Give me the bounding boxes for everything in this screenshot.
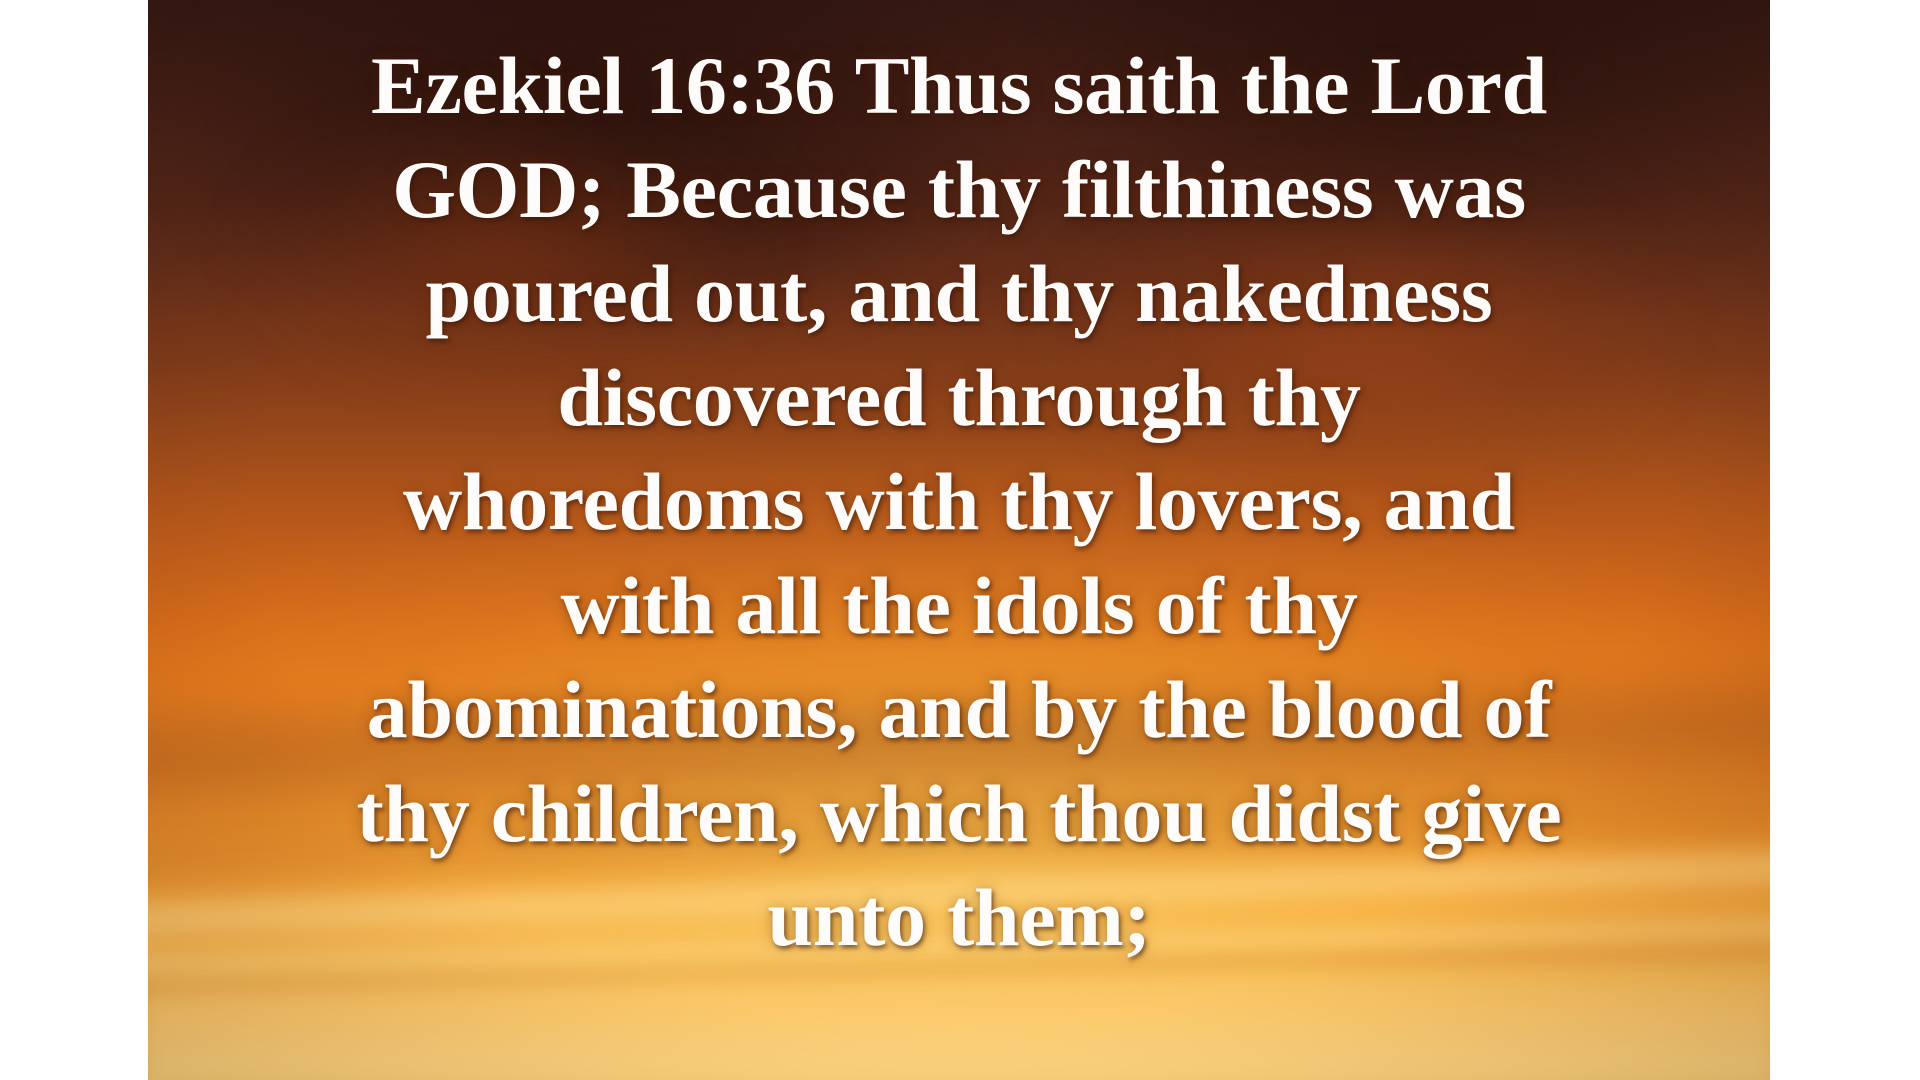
scripture-verse-text: Ezekiel 16:36 Thus saith the LordGOD; Be… [148, 0, 1770, 1080]
verse-line: whoredoms with thy lovers, and [403, 456, 1515, 547]
slide-canvas: Ezekiel 16:36 Thus saith the LordGOD; Be… [0, 0, 1920, 1080]
verse-line: GOD; Because thy filthiness was [392, 144, 1526, 235]
verse-line: thy children, which thou didst give [356, 768, 1561, 859]
sunset-background-photo: Ezekiel 16:36 Thus saith the LordGOD; Be… [148, 0, 1770, 1080]
verse-line: with all the idols of thy [560, 560, 1357, 651]
verse-line: Ezekiel 16:36 Thus saith the Lord [371, 40, 1547, 131]
verse-line: abominations, and by the blood of [367, 664, 1551, 755]
verse-line: poured out, and thy nakedness [426, 248, 1493, 339]
verse-line: unto them; [768, 872, 1151, 963]
verse-line: discovered through thy [557, 352, 1360, 443]
